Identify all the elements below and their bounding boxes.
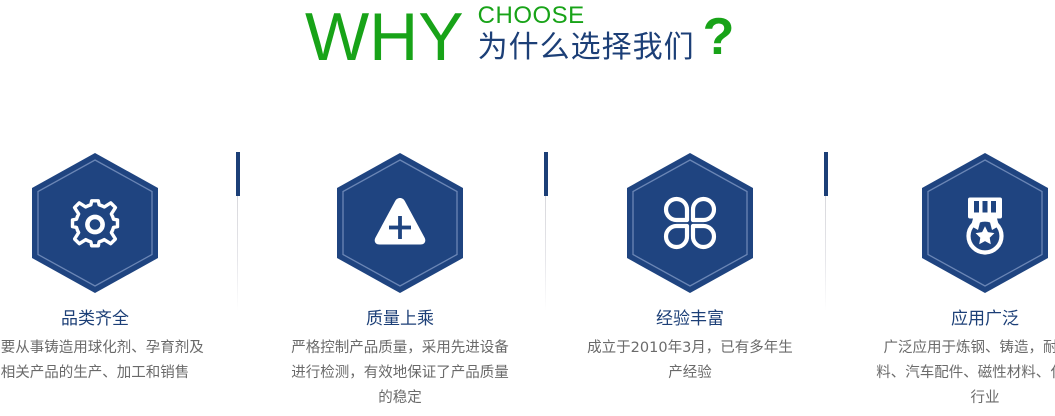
feature-card-1: 品类齐全 主要从事铸造用球化剂、孕育剂及相关产品的生产、加工和销售: [0, 150, 220, 386]
gear-icon: [31, 152, 159, 294]
card-title: 经验丰富: [565, 308, 815, 330]
triangle-plus-icon: [336, 152, 464, 294]
card-description: 成立于2010年3月，已有多年生产经验: [565, 336, 815, 386]
card-title: 品类齐全: [0, 308, 220, 330]
feature-card-3: 经验丰富 成立于2010年3月，已有多年生产经验: [565, 150, 815, 386]
header-middle-block: CHOOSE 为什么选择我们: [478, 0, 695, 67]
header-inner: WHY CHOOSE 为什么选择我们 ?: [305, 0, 734, 74]
medal-icon: [921, 152, 1049, 294]
card-title: 应用广泛: [860, 308, 1055, 330]
four-petal-clover-icon: [626, 152, 754, 294]
hexagon-badge-4: [860, 150, 1055, 295]
hexagon-badge-3: [565, 150, 815, 295]
hexagon-badge-1: [0, 150, 220, 295]
hexagon-badge-2: [275, 150, 525, 295]
header-choose-text: CHOOSE: [478, 2, 695, 29]
card-description: 主要从事铸造用球化剂、孕育剂及相关产品的生产、加工和销售: [0, 336, 220, 386]
card-description: 严格控制产品质量，采用先进设备进行检测，有效地保证了产品质量的稳定: [275, 336, 525, 411]
header-question-mark: ?: [703, 8, 735, 74]
header-chinese-title: 为什么选择我们: [478, 29, 695, 67]
feature-card-2: 质量上乘 严格控制产品质量，采用先进设备进行检测，有效地保证了产品质量的稳定: [275, 150, 525, 411]
feature-cards: 品类齐全 主要从事铸造用球化剂、孕育剂及相关产品的生产、加工和销售 质量上乘 严…: [0, 150, 1055, 416]
header-why-text: WHY: [305, 0, 464, 74]
section-header: WHY CHOOSE 为什么选择我们 ?: [0, 0, 1055, 95]
card-title: 质量上乘: [275, 308, 525, 330]
card-description: 广泛应用于炼钢、铸造，耐火材料、汽车配件、磁性材料、化工等行业: [860, 336, 1055, 411]
feature-card-4: 应用广泛 广泛应用于炼钢、铸造，耐火材料、汽车配件、磁性材料、化工等行业: [860, 150, 1055, 411]
